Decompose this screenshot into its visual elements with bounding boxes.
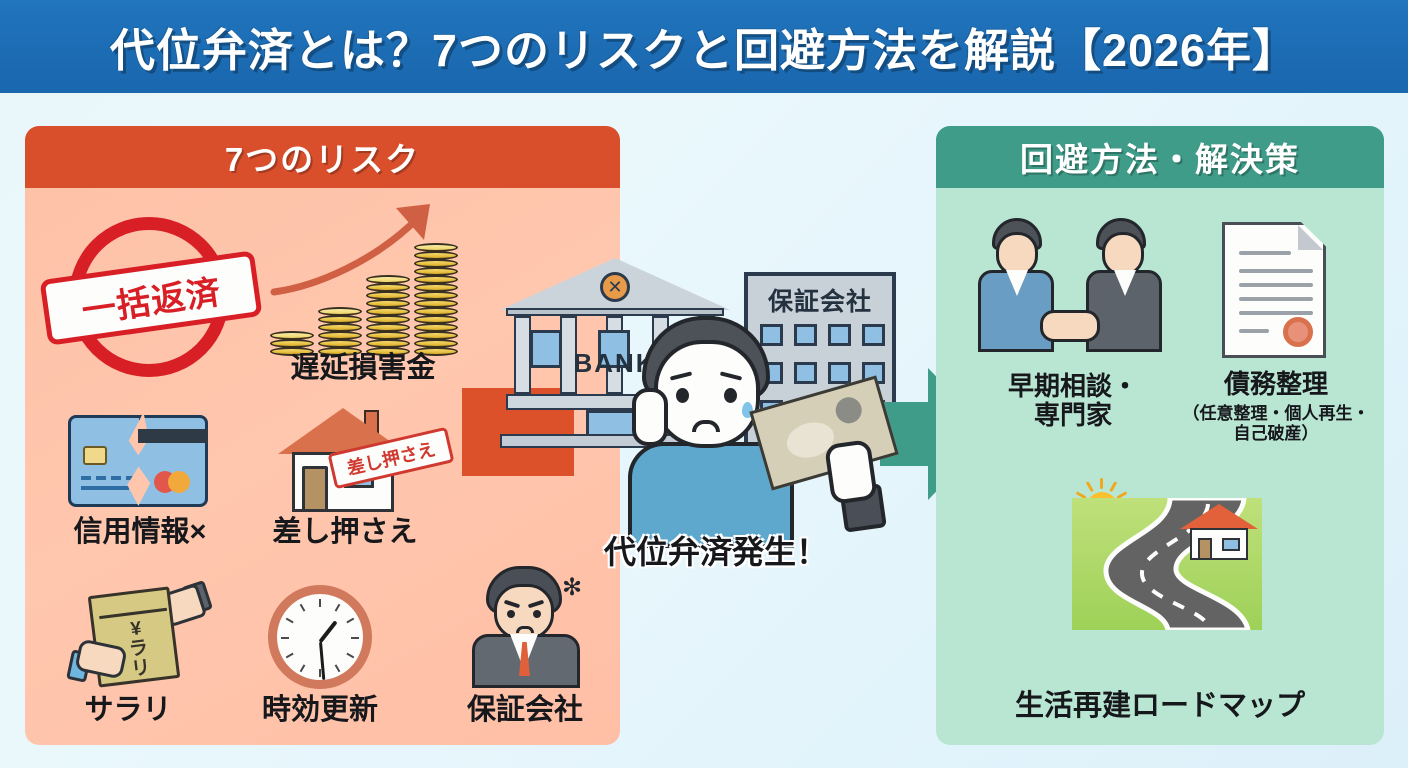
coin-stack-2 [318, 307, 362, 355]
solution-label-soki-sodan-l1: 早期相談・ [1008, 371, 1138, 401]
page-title: 代位弁済とは？7つのリスクと回避方法を解説【2026年】 [110, 14, 1298, 79]
rm-house-roof [1180, 504, 1258, 529]
card-number-lines-2 [81, 486, 129, 490]
mouth-frown [516, 626, 534, 633]
coin-stack-4 [414, 243, 458, 355]
risk-panel-header: 7つのリスク [25, 126, 620, 188]
banknote-icon [749, 375, 898, 490]
solution-panel-header: 回避方法・解決策 [936, 126, 1384, 188]
risk-label-chien-songaikin: 遅延損害金 [268, 352, 458, 384]
worried-person-icon [606, 316, 876, 548]
guarantee-company-label: 保証会社 [748, 282, 892, 318]
risk-label-jiko-koshin: 時効更新 [230, 694, 410, 726]
coin-stack-3 [366, 275, 410, 355]
card-magnetic-stripe [138, 429, 208, 443]
card-logo-circle-b [168, 471, 190, 493]
rm-house-window [1222, 538, 1240, 551]
handshake-icon [978, 218, 1168, 368]
salary-envelope-icon: ¥ラリ [75, 585, 205, 690]
risk-label-salary: サラリ [48, 694, 208, 726]
bank-cross-badge-icon: ✕ [600, 272, 630, 302]
angry-businessman-icon: ✻ [462, 566, 590, 688]
risk-label-sashiosae: 差し押さえ [250, 516, 440, 548]
infographic-canvas: 代位弁済とは？7つのリスクと回避方法を解説【2026年】 7つのリスク 一括返済 [0, 0, 1408, 768]
clock-hour-hand [318, 620, 337, 643]
solution-panel-heading: 回避方法・解決策 [1020, 133, 1300, 181]
solution-sublabel-saimu-seiri: （任意整理・個人再生・ 自己破産） [1160, 404, 1392, 445]
risk-label-ikkatsu: 一括返済 [78, 264, 223, 332]
rm-house-door [1198, 538, 1212, 560]
person-eye-right [724, 388, 737, 403]
broken-credit-card-icon [68, 415, 208, 507]
document-seal-icon [1222, 222, 1326, 358]
anger-mark-icon: ✻ [562, 576, 586, 600]
card-left-fragment [68, 415, 142, 507]
creditor-hand-icon [824, 439, 878, 505]
solution-sublabel-l1: （任意整理・個人再生・ [1183, 404, 1370, 423]
door-icon [302, 466, 328, 512]
eye-right [533, 610, 541, 618]
solution-label-seikatsu-saiken: 生活再建ロードマップ [960, 690, 1360, 722]
red-seal-icon [1283, 317, 1313, 347]
solution-label-soki-sodan: 早期相談・ 専門家 [968, 372, 1178, 430]
person-eye-left [676, 388, 689, 403]
rising-coins-icon [268, 200, 458, 355]
person-hand-on-cheek [632, 388, 668, 446]
clasped-hands-icon [1040, 310, 1100, 342]
solution-label-soki-sodan-l2: 専門家 [1034, 400, 1112, 430]
solution-label-saimu-seiri: 債務整理 [1186, 370, 1366, 399]
risk-label-hosho-gaisha: 保証会社 [430, 694, 620, 726]
risk-label-shinyo-joho: 信用情報× [45, 516, 235, 548]
center-caption: 代位弁済発生！ [566, 527, 866, 573]
bank-cornice [506, 308, 724, 316]
lump-sum-repayment-stamp-icon: 一括返済 [47, 205, 257, 395]
risk-panel-heading: 7つのリスク [225, 133, 420, 181]
header-banner: 代位弁済とは？7つのリスクと回避方法を解説【2026年】 [0, 0, 1408, 93]
card-number-lines [81, 476, 135, 480]
eye-left [507, 610, 515, 618]
banknote-portrait [833, 394, 865, 426]
solution-sublabel-l2: 自己破産） [1234, 424, 1319, 443]
clock-icon [268, 585, 372, 689]
rebuilt-house-icon [1180, 504, 1258, 560]
card-chip-icon [83, 446, 107, 465]
